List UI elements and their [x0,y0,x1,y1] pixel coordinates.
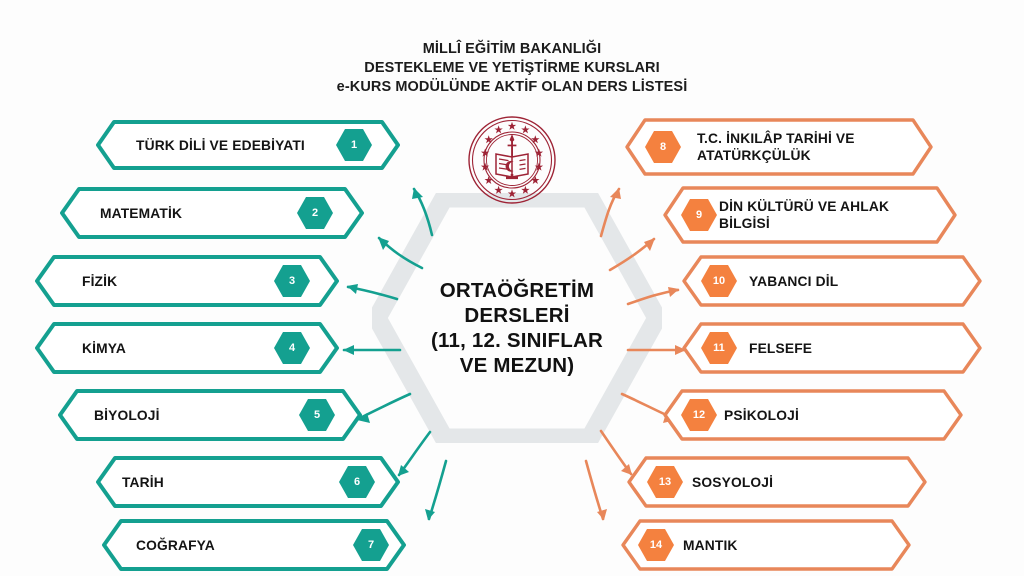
course-banner-11[interactable]: FELSEFE 11 [682,322,982,374]
course-banner-8[interactable]: T.C. İNKILÂP TARİHİ VE ATATÜRKÇÜLÜK 8 [625,118,933,176]
course-banner-10[interactable]: YABANCI DİL 10 [682,255,982,307]
meb-emblem-icon: TÜRKİYE CUMHURİYETİ MİLLÎ EĞİTİM BAKANLI… [466,114,558,206]
course-banner-2[interactable]: MATEMATİK 2 [60,187,364,239]
course-banner-1[interactable]: TÜRK DİLİ VE EDEBİYATI 1 [96,120,400,170]
course-banner-13[interactable]: SOSYOLOJİ 13 [627,456,927,508]
course-banner-3[interactable]: FİZİK 3 [35,255,339,307]
course-banner-7[interactable]: COĞRAFYA 7 [102,519,406,571]
course-banner-12[interactable]: PSİKOLOJİ 12 [663,389,963,441]
course-banner-5[interactable]: BİYOLOJİ 5 [58,389,362,441]
course-banner-4[interactable]: KİMYA 4 [35,322,339,374]
course-banner-14[interactable]: MANTIK 14 [621,519,911,571]
course-banner-9[interactable]: DİN KÜLTÜRÜ VE AHLAK BİLGİSİ 9 [663,186,957,244]
course-banner-6[interactable]: TARİH 6 [96,456,400,508]
